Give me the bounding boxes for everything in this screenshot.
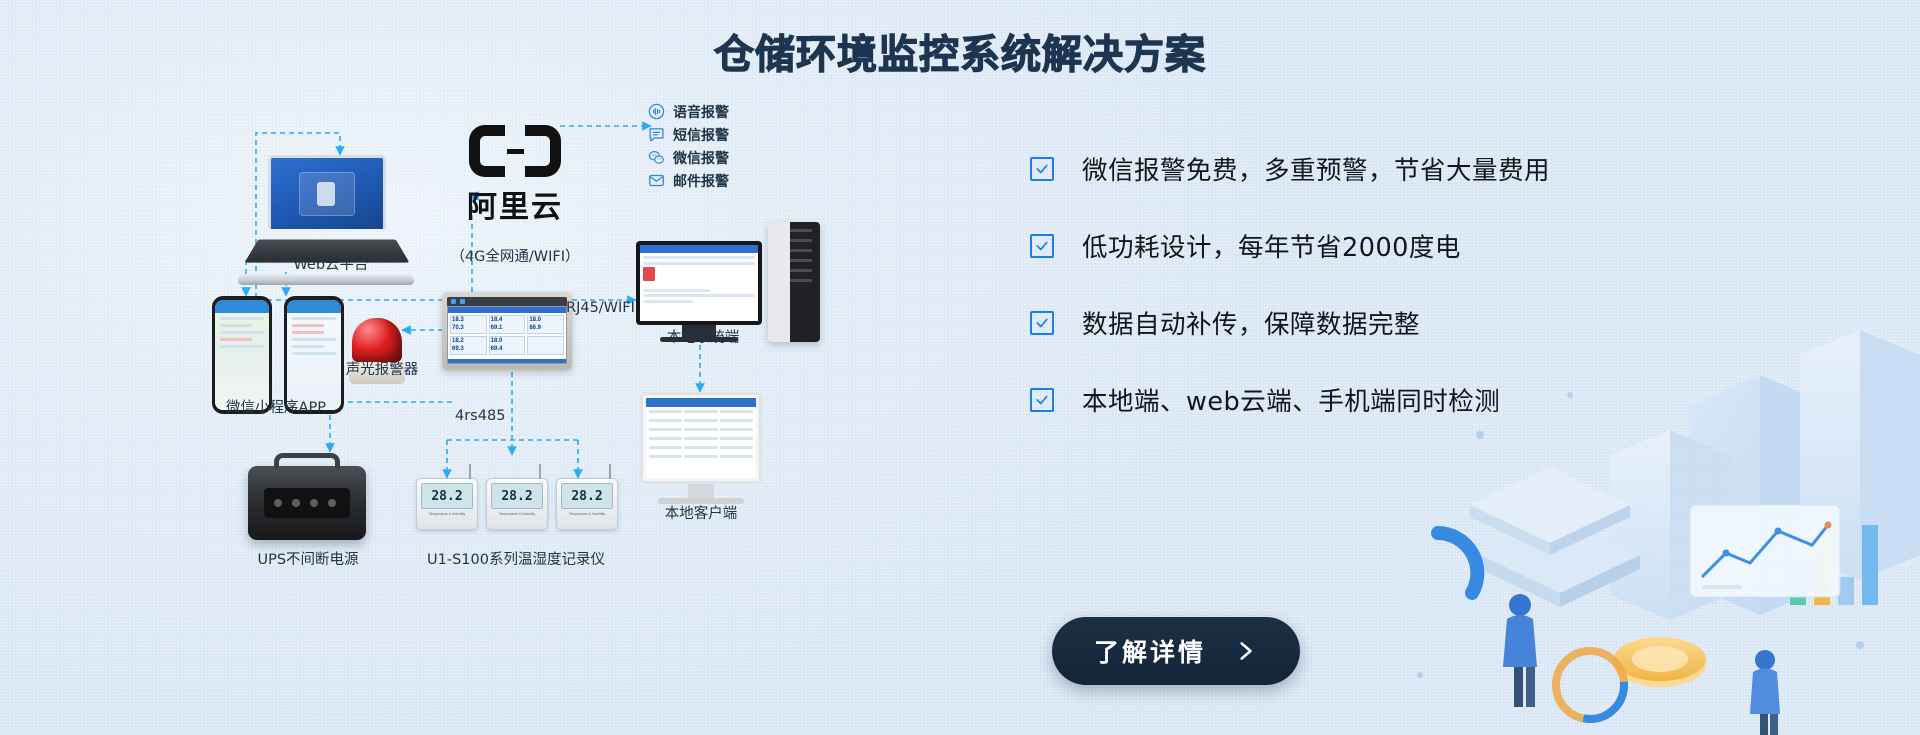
- label-local-system: 本地系统端: [638, 326, 768, 347]
- checkbox-icon: [1030, 157, 1054, 181]
- reading-temp: 18.2: [452, 338, 485, 346]
- reading-hum: 70.3: [452, 325, 485, 333]
- wechat-alarm-icon: [648, 149, 665, 166]
- aliyun-logo: 阿里云: [455, 125, 575, 226]
- alarm-item-voice[interactable]: 语音报警: [648, 100, 729, 123]
- checkbox-icon: [1030, 388, 1054, 412]
- alarm-item-label: 语音报警: [673, 102, 729, 122]
- aliyun-mark-icon: [469, 125, 561, 177]
- network-note: （4G全网通/WIFI）: [400, 245, 630, 266]
- controller-screen: 18.3 70.3 18.4 69.1 18.0 66.9 18.2 69.3 …: [447, 306, 567, 364]
- sensor-reading: 28.2: [421, 483, 473, 509]
- label-mini-app: 微信小程序APP: [196, 396, 356, 417]
- label-web-cloud: Web云平台: [266, 253, 396, 274]
- ups-handle: [274, 453, 340, 468]
- label-ups: UPS不间断电源: [228, 548, 388, 569]
- sms-alarm-icon: [648, 126, 665, 143]
- sensor-group: 28.2 Temperature & Humidity 28.2 Tempera…: [416, 478, 618, 530]
- sensor-reading: 28.2: [491, 483, 543, 509]
- aliyun-brand-text: 阿里云: [455, 182, 575, 226]
- local-system-station: [636, 222, 820, 342]
- ups-panel: [264, 488, 350, 518]
- pc-tower: [768, 222, 820, 342]
- ups-power-supply: [248, 466, 366, 540]
- label-rs485: 4rs485: [455, 408, 535, 424]
- alarm-item-label: 短信报警: [673, 125, 729, 145]
- sensor-unit: 28.2 Temperature & Humidity: [416, 478, 478, 530]
- email-alarm-icon: [648, 172, 665, 189]
- feature-item: 微信报警免费，多重预警，节省大量费用: [1030, 150, 1670, 187]
- isometric-illustration: [1360, 255, 1920, 735]
- alarm-item-email[interactable]: 邮件报警: [648, 169, 729, 192]
- reading-hum: 69.3: [452, 346, 485, 354]
- laptop-screen: [268, 155, 386, 229]
- banner-root: 仓储环境监控系统解决方案: [0, 0, 1920, 735]
- reading-hum: 66.9: [529, 325, 562, 333]
- label-local-client: 本地客户端: [636, 502, 766, 523]
- label-beacon: 声光报警器: [326, 358, 438, 379]
- alarm-item-label: 微信报警: [673, 148, 729, 168]
- reading-temp: 18.3: [452, 317, 485, 325]
- alarm-item-sms[interactable]: 短信报警: [648, 123, 729, 146]
- laptop-base: [235, 274, 416, 285]
- sensor-reading: 28.2: [561, 483, 613, 509]
- learn-more-button[interactable]: 了解详情: [1052, 617, 1300, 685]
- feature-label: 微信报警免费，多重预警，节省大量费用: [1082, 150, 1550, 187]
- checkbox-icon: [1030, 234, 1054, 258]
- controller-host: 18.3 70.3 18.4 69.1 18.0 66.9 18.2 69.3 …: [442, 292, 572, 370]
- reading-hum: 69.4: [491, 346, 524, 354]
- voice-alarm-icon: [648, 103, 665, 120]
- local-client-computer: [640, 392, 762, 504]
- beacon-dome: [352, 318, 402, 362]
- label-sensors: U1-S100系列温湿度记录仪: [396, 548, 636, 569]
- sensor-unit: 28.2 Temperature & Humidity: [556, 478, 618, 530]
- checkbox-icon: [1030, 311, 1054, 335]
- alarm-item-label: 邮件报警: [673, 171, 729, 191]
- reading-hum: 69.1: [491, 325, 524, 333]
- reading-temp: 18.0: [529, 317, 562, 325]
- learn-more-label: 了解详情: [1094, 633, 1206, 669]
- alarm-item-wechat[interactable]: 微信报警: [648, 146, 729, 169]
- alarm-channel-list: 语音报警 短信报警 微信报警: [648, 100, 729, 192]
- chevron-right-icon: [1232, 638, 1258, 664]
- architecture-diagram: 阿里云 （4G全网通/WIFI） 语音报警: [0, 0, 840, 735]
- controller-topbar: [447, 297, 567, 306]
- reading-temp: 18.4: [491, 317, 524, 325]
- controller-readings: 18.3 70.3 18.4 69.1 18.0 66.9 18.2 69.3 …: [448, 313, 566, 357]
- reading-temp: 18.0: [491, 338, 524, 346]
- sensor-unit: 28.2 Temperature & Humidity: [486, 478, 548, 530]
